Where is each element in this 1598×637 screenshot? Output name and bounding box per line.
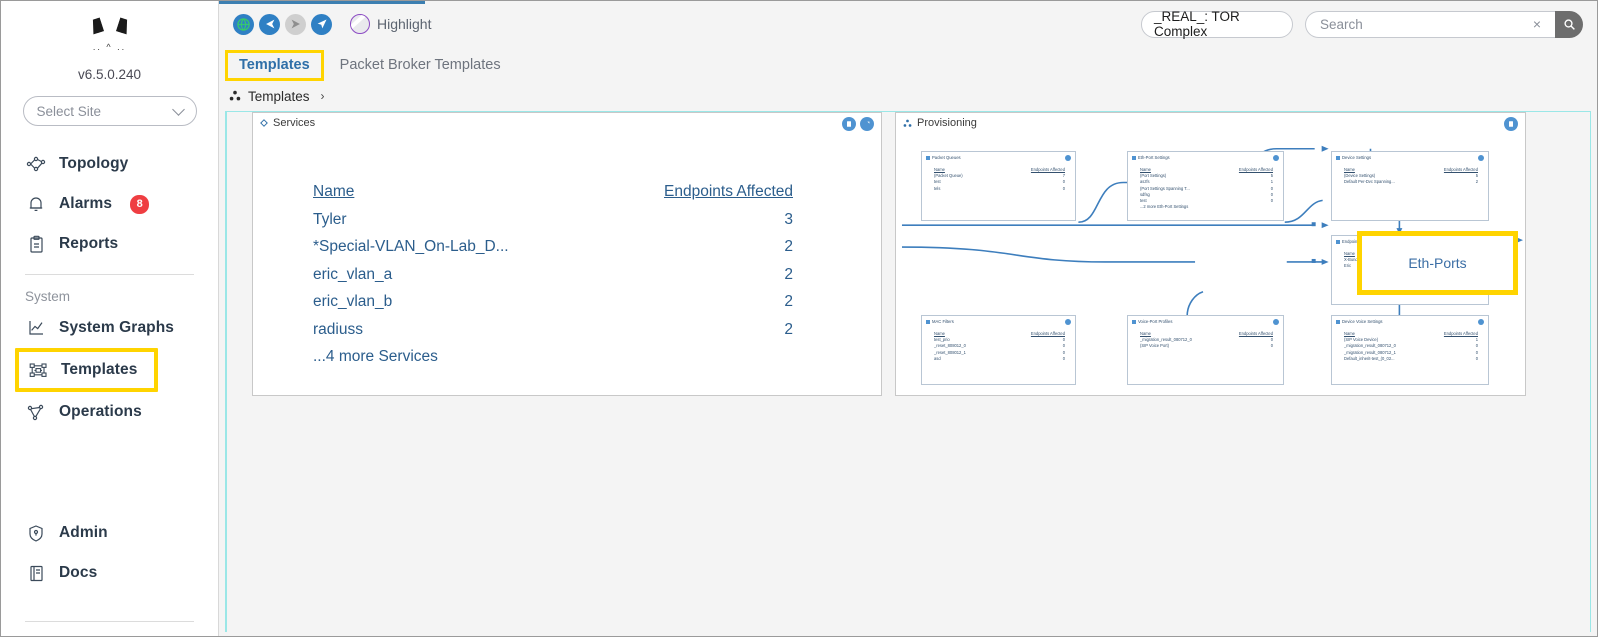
sidebar-item-label: Reports [59, 235, 118, 253]
logo-area: .. ^ .. v6.5.0.240 [1, 1, 218, 82]
service-name: *Special-VLAN_On-Lab_D... [313, 233, 613, 261]
sidebar-item-reports[interactable]: Reports [1, 224, 218, 264]
clipboard-icon [25, 233, 47, 255]
sidebar-item-label: Templates [61, 361, 137, 379]
secondary-nav: Admin Docs [1, 513, 218, 593]
service-endpoints: 2 [643, 288, 793, 316]
toolbar-accent-bar [219, 1, 425, 4]
services-panel-actions [842, 117, 874, 131]
breadcrumb: Templates › [219, 81, 1597, 111]
provisioning-panel-title: Provisioning [903, 117, 977, 129]
provisioning-icon [903, 119, 912, 128]
realm-selector[interactable]: _REAL_: TOR Complex [1141, 11, 1293, 38]
node-title: Device Settings [1336, 155, 1371, 160]
sidebar-item-admin[interactable]: Admin [1, 513, 218, 553]
tab-label: Templates [239, 57, 310, 73]
service-name: eric_vlan_b [313, 288, 613, 316]
node-icon [1336, 240, 1340, 244]
table-row[interactable]: *Special-VLAN_On-Lab_D... 2 [313, 233, 793, 261]
bell-icon [25, 193, 47, 215]
table-row: ...2 more Eth-Port Settings [1140, 204, 1273, 210]
search-area: _REAL_: TOR Complex Search × [1141, 11, 1597, 38]
shield-icon [25, 522, 47, 544]
provisioning-panel: Provisioning [895, 112, 1526, 396]
node-icon [1336, 156, 1340, 160]
sidebar-item-operations[interactable]: Operations [1, 392, 218, 432]
clear-icon[interactable]: × [1529, 16, 1545, 32]
node-table: Name Endpoints Affected (Packet Queue)7 … [934, 167, 1065, 192]
node-icon [1132, 156, 1136, 160]
app-logo-icon: .. ^ .. [77, 15, 143, 65]
node-action-icon[interactable] [1273, 319, 1279, 325]
copy-icon[interactable] [1504, 117, 1518, 131]
search-button[interactable] [1555, 11, 1583, 38]
table-row: tels0 [934, 186, 1065, 192]
node-voice-port-profiles[interactable]: Voice-Port Profiles Name Endpoints Affec… [1127, 315, 1284, 385]
chevron-down-icon [172, 103, 185, 116]
node-title: MAC Filters [926, 319, 954, 324]
table-row: (SIP Voice Port)0 [1140, 343, 1273, 349]
templates-canvas: Services Name Endpoints Affected [225, 111, 1591, 632]
site-select-placeholder: Select Site [37, 104, 102, 119]
node-device-voice-settings[interactable]: Device Voice Settings Name Endpoints Aff… [1331, 315, 1489, 385]
breadcrumb-arrow-icon: › [321, 89, 325, 103]
service-endpoints: 3 [643, 206, 793, 234]
version-label: v6.5.0.240 [1, 67, 218, 82]
search-input[interactable]: Search × [1305, 11, 1555, 38]
operations-icon [25, 401, 47, 423]
more-services-row[interactable]: ...4 more Services [313, 343, 793, 371]
breadcrumb-label[interactable]: Templates [248, 89, 310, 104]
node-packet-queues[interactable]: Packet Queues Name Endpoints Affected (P… [921, 151, 1076, 221]
more-services-label: ...4 more Services [313, 343, 613, 371]
service-endpoints: 2 [643, 261, 793, 289]
site-select-dropdown[interactable]: Select Site [23, 96, 197, 126]
sidebar-item-system-graphs[interactable]: System Graphs [1, 308, 218, 348]
node-device-settings[interactable]: Device Settings Name Endpoints Affected … [1331, 151, 1489, 221]
node-icon [926, 320, 930, 324]
sidebar-bottom-divider [25, 621, 194, 622]
node-action-icon[interactable] [1065, 155, 1071, 161]
search-placeholder: Search [1320, 17, 1529, 32]
table-row[interactable]: eric_vlan_b 2 [313, 288, 793, 316]
topology-icon [25, 153, 47, 175]
book-icon [25, 562, 47, 584]
application-window: .. ^ .. v6.5.0.240 Select Site Topology [0, 0, 1598, 637]
services-table: Name Endpoints Affected Tyler 3 *Special… [313, 178, 793, 371]
table-header-row: Name Endpoints Affected [313, 178, 793, 206]
highlight-icon [350, 14, 370, 34]
node-table: Name Endpoints Affected (Port Settings)5… [1140, 167, 1273, 210]
toolbar: Highlight _REAL_: TOR Complex Search × [219, 1, 1597, 47]
node-icon [1336, 320, 1340, 324]
sidebar-item-topology[interactable]: Topology [1, 144, 218, 184]
node-table: Name Endpoints Affected (SIP Voice Devic… [1344, 331, 1478, 362]
service-endpoints: 2 [643, 233, 793, 261]
service-name: radiuss [313, 316, 613, 344]
back-arrow-icon[interactable] [259, 14, 280, 35]
node-table: Name Endpoints Affected (Device Settings… [1344, 167, 1478, 186]
node-eth-ports-label: Eth-Ports [1408, 255, 1466, 271]
panel-title-text: Provisioning [917, 117, 977, 129]
table-row[interactable]: Tyler 3 [313, 206, 793, 234]
node-action-icon[interactable] [1065, 319, 1071, 325]
sidebar-item-label: System Graphs [59, 319, 174, 337]
node-eth-ports-highlighted[interactable]: Eth-Ports [1357, 231, 1518, 295]
services-panel-title: Services [260, 117, 315, 129]
column-header-endpoints[interactable]: Endpoints Affected [643, 178, 793, 206]
node-title: Packet Queues [926, 155, 961, 160]
node-action-icon[interactable] [1478, 319, 1484, 325]
sidebar-item-label: Alarms [59, 195, 112, 213]
copy-icon[interactable] [842, 117, 856, 131]
node-mac-filters[interactable]: MAC Filters Name Endpoints Affected test… [921, 315, 1076, 385]
toolbar-icon-group [233, 14, 332, 35]
node-table: Name Endpoints Affected test_prio0 _rese… [934, 331, 1065, 362]
node-title: Voice-Port Profiles [1132, 319, 1172, 324]
node-icon [1132, 320, 1136, 324]
sidebar-item-label: Operations [59, 403, 142, 421]
table-row[interactable]: radiuss 2 [313, 316, 793, 344]
navigate-icon[interactable] [311, 14, 332, 35]
tab-packet-broker-templates[interactable]: Packet Broker Templates [328, 52, 513, 81]
main-area: Highlight _REAL_: TOR Complex Search × [219, 1, 1597, 636]
sidebar-item-docs[interactable]: Docs [1, 553, 218, 593]
search-control: Search × [1305, 11, 1583, 38]
panel-title-text: Services [273, 117, 315, 129]
sidebar-item-templates[interactable]: Templates [15, 348, 158, 392]
table-row[interactable]: eric_vlan_a 2 [313, 261, 793, 289]
service-endpoints: 2 [643, 316, 793, 344]
table-row: Default Per-Dvc Spanning...2 [1344, 179, 1478, 185]
node-eth-port-settings[interactable]: Eth-Port Settings Name Endpoints Affecte… [1127, 151, 1284, 221]
realm-value: _REAL_: TOR Complex [1154, 9, 1280, 39]
highlight-button[interactable]: Highlight [350, 14, 431, 34]
nav-group-label: System [1, 275, 218, 308]
highlight-label: Highlight [377, 16, 431, 32]
node-table: Name Endpoints Affected _migration_resul… [1140, 331, 1273, 350]
templates-icon [27, 359, 49, 381]
tab-templates[interactable]: Templates [225, 50, 324, 81]
diamond-icon [260, 119, 268, 127]
node-action-icon[interactable] [1478, 155, 1484, 161]
sidebar-item-alarms[interactable]: Alarms 8 [1, 184, 218, 224]
service-name: eric_vlan_a [313, 261, 613, 289]
tab-bar: Templates Packet Broker Templates [219, 47, 1597, 81]
sidebar-item-label: Docs [59, 564, 97, 582]
sidebar-item-label: Admin [59, 524, 108, 542]
sidebar-item-label: Topology [59, 155, 128, 173]
sidebar: .. ^ .. v6.5.0.240 Select Site Topology [1, 1, 219, 636]
primary-nav: Topology Alarms 8 [1, 144, 218, 432]
tab-label: Packet Broker Templates [340, 57, 501, 73]
node-action-icon[interactable] [1273, 155, 1279, 161]
provisioning-panel-actions [1504, 117, 1518, 131]
node-title: Eth-Port Settings [1132, 155, 1170, 160]
alarms-badge: 8 [130, 195, 149, 214]
table-row: Default_inherit-test_(0_02...0 [1344, 356, 1478, 362]
node-icon [926, 156, 930, 160]
graph-icon [25, 317, 47, 339]
globe-icon[interactable] [233, 14, 254, 35]
service-name: Tyler [313, 206, 613, 234]
expand-icon[interactable] [860, 117, 874, 131]
forward-arrow-icon[interactable] [285, 14, 306, 35]
node-title: Device Voice Settings [1336, 319, 1383, 324]
column-header-name[interactable]: Name [313, 178, 613, 206]
services-panel: Services Name Endpoints Affected [252, 112, 882, 396]
templates-breadcrumb-icon [229, 90, 241, 102]
table-row: asd0 [934, 356, 1065, 362]
